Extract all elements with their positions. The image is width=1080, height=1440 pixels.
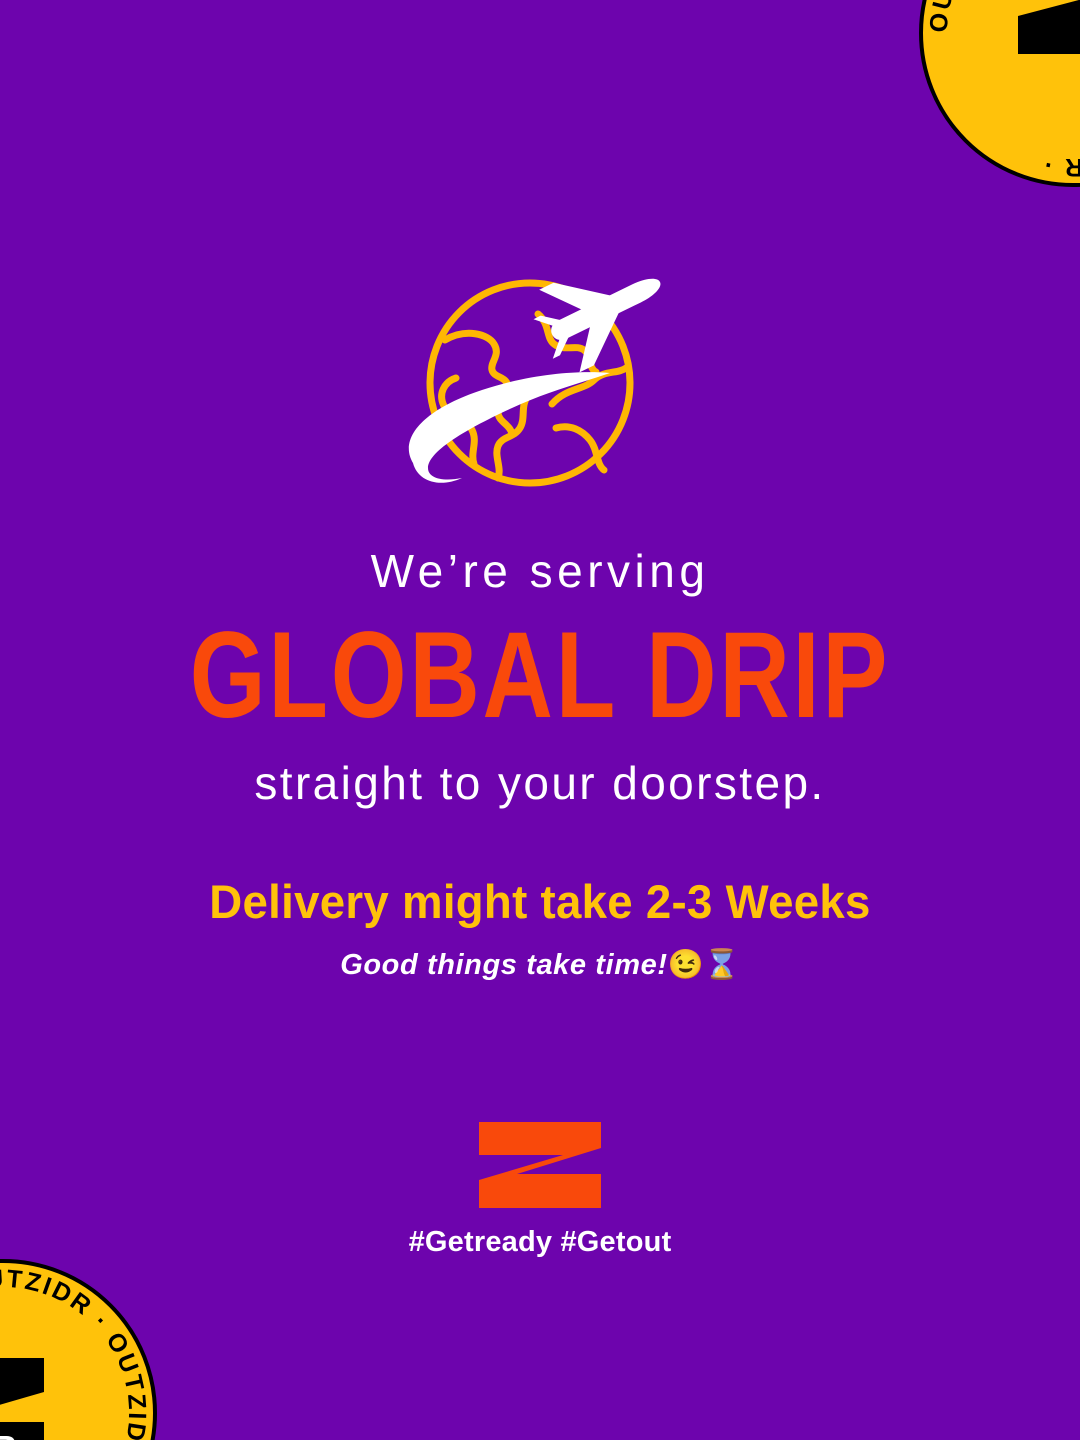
badge-wordmark-bottom-left: OUTZIDR: [0, 1429, 17, 1440]
delivery-subnote: Good things take time!😉⌛: [0, 951, 1080, 980]
poster-canvas: We’re serving GLOBAL DRIP straight to yo…: [0, 0, 1080, 1440]
footer-brand-block: #Getready #Getout: [0, 1122, 1080, 1259]
headline-line-1: We’re serving: [0, 548, 1080, 594]
outzidr-badge-bottom-left: OUTZIDR · OUTZIDR · OUTZIDR · OUTZIDR · …: [0, 1258, 158, 1440]
z-logo: [479, 1122, 601, 1208]
headline-block: We’re serving GLOBAL DRIP straight to yo…: [0, 548, 1080, 980]
wink-hourglass-emoji: 😉⌛: [668, 949, 740, 981]
headline-line-3: straight to your doorstep.: [0, 760, 1080, 806]
delivery-notice: Delivery might take 2-3 Weeks: [16, 878, 1064, 925]
delivery-subnote-text: Good things take time!: [340, 949, 667, 981]
headline-line-2: GLOBAL DRIP: [43, 614, 1037, 737]
brand-tagline: #Getready #Getout: [0, 1226, 1080, 1259]
globe-airplane-icon: [370, 278, 710, 508]
outzidr-badge-top-right: OUTZIDR · OUTZIDR · OUTZIDR · OUTZIDR ·: [918, 0, 1080, 188]
